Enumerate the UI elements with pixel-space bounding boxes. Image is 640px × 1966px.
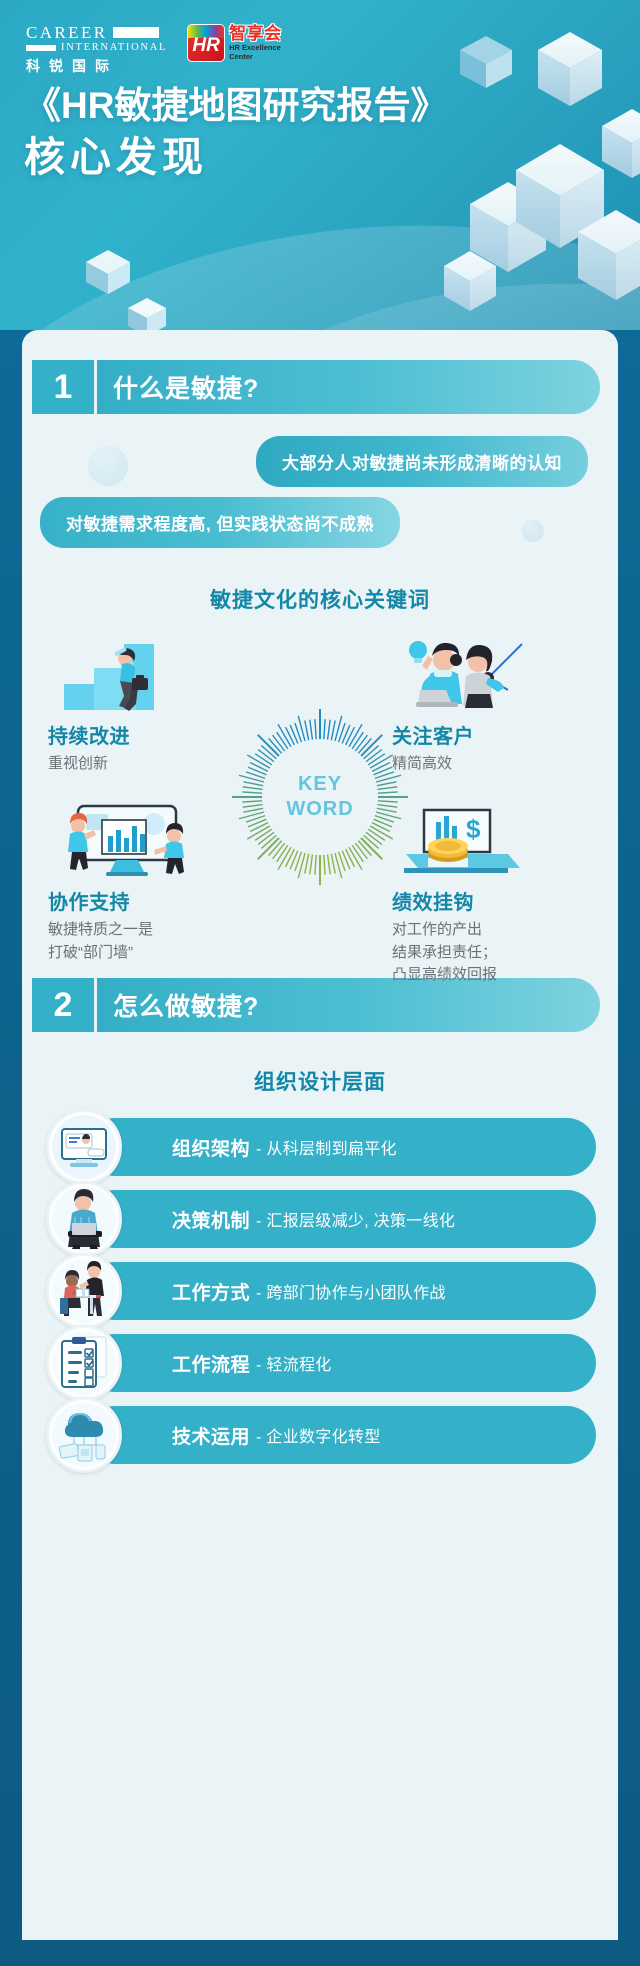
floating-cube-icon-1 (460, 34, 512, 90)
bubble-dot-decor-small (522, 520, 544, 542)
keyword-center-burst: KEY WORD (229, 706, 411, 888)
hr-logo-sub-2: Center (229, 53, 282, 61)
list-item[interactable]: 工作流程 - 轻流程化 (40, 1334, 596, 1392)
organization-design-list: 组织架构 - 从科层制到扁平化 (40, 1118, 596, 1464)
career-logo-cn: 科锐国际 (26, 59, 167, 73)
presentation-chart-icon (48, 804, 248, 878)
keyword-center-label: KEY WORD (229, 772, 411, 822)
finding-pill-1: 大部分人对敏捷尚未形成清晰的认知 (256, 436, 588, 487)
stairs-climb-icon (48, 638, 248, 712)
hr-logo-sub-1: HR Excellence (229, 44, 282, 52)
checklist-icon (46, 1325, 122, 1401)
list-item-title: 工作方式 (172, 1278, 250, 1305)
section-2-number: 2 (32, 978, 94, 1032)
desktop-profile-icon (46, 1109, 122, 1185)
keyword-desc-1: 重视创新 (48, 753, 248, 776)
section-2-sub-heading: 组织设计层面 (22, 1066, 618, 1096)
finding-pill-2: 对敏捷需求程度高, 但实践状态尚不成熟 (40, 497, 400, 548)
keyword-desc-4: 对工作的产出结果承担责任；凸显高绩效回报 (392, 919, 592, 987)
page-title: 《HR敏捷地图研究报告》 核心发现 (24, 84, 447, 182)
hr-badge-text: HR (192, 36, 219, 55)
keyword-center-label-line-1: KEY (229, 772, 411, 797)
keyword-grid: KEY WORD (22, 628, 618, 958)
list-item-bar[interactable]: 组织架构 - 从科层制到扁平化 (86, 1118, 596, 1176)
hr-logo-cn: 智享会 (229, 25, 282, 43)
keyword-name-2: 关注客户 (392, 720, 592, 749)
keyword-center-label-line-2: WORD (229, 797, 411, 822)
list-item-bar[interactable]: 决策机制 - 汇报层级减少, 决策一线化 (86, 1190, 596, 1248)
content-panel: 1 什么是敏捷? 大部分人对敏捷尚未形成清晰的认知 对敏捷需求程度高, 但实践状… (22, 330, 618, 1940)
section-1-findings: 大部分人对敏捷尚未形成清晰的认知 对敏捷需求程度高, 但实践状态尚不成熟 (40, 436, 600, 548)
list-item-detail: - 汇报层级减少, 决策一线化 (256, 1207, 455, 1231)
list-item[interactable]: 工作方式 - 跨部门协作与小团队作战 (40, 1262, 596, 1320)
keyword-name-3: 协作支持 (48, 886, 248, 915)
career-logo-en-top: CAREER (26, 24, 107, 41)
keyword-item-3: 协作支持 敏捷特质之一是打破“部门墙” (48, 804, 248, 964)
infographic-page: CAREER INTERNATIONAL 科锐国际 HR 智享会 HR Exce… (0, 0, 640, 1966)
hero-banner: CAREER INTERNATIONAL 科锐国际 HR 智享会 HR Exce… (0, 0, 640, 330)
keyword-item-1: 持续改进 重视创新 (48, 638, 248, 776)
laptop-coins-icon: $ (392, 804, 592, 878)
page-title-line-1: 《HR敏捷地图研究报告》 (24, 84, 447, 128)
career-logo-en-bottom: INTERNATIONAL (61, 43, 167, 54)
list-item-detail: - 从科层制到扁平化 (256, 1135, 397, 1159)
keyword-item-2: 关注客户 精简高效 (392, 638, 592, 776)
keyword-name-1: 持续改进 (48, 720, 248, 749)
team-meeting-icon (46, 1253, 122, 1329)
career-logo-bar-2 (26, 45, 56, 51)
hr-badge-icon: HR (187, 24, 225, 62)
section-1-title: 什么是敏捷? (97, 360, 600, 414)
career-logo-bar (113, 27, 159, 38)
floating-cube-icon-3 (128, 296, 166, 330)
keyword-item-4: $ 绩效挂钩 对工作的产出结果承担责任；凸显高绩效回报 (392, 804, 592, 987)
bubble-dot-decor (88, 446, 128, 486)
list-item[interactable]: 技术运用 - 企业数字化转型 (40, 1406, 596, 1464)
keyword-desc-2: 精简高效 (392, 753, 592, 776)
keyword-name-4: 绩效挂钩 (392, 886, 592, 915)
list-item-title: 决策机制 (172, 1206, 250, 1233)
person-laptop-icon (46, 1181, 122, 1257)
keyword-section-title: 敏捷文化的核心关键词 (22, 584, 618, 614)
list-item-title: 技术运用 (172, 1422, 250, 1449)
section-1-number: 1 (32, 360, 94, 414)
two-people-idea-icon (392, 638, 592, 712)
page-title-line-2: 核心发现 (24, 132, 447, 182)
list-item-detail: - 轻流程化 (256, 1351, 332, 1375)
list-item[interactable]: 组织架构 - 从科层制到扁平化 (40, 1118, 596, 1176)
section-1-header: 1 什么是敏捷? (32, 360, 600, 414)
list-item-detail: - 企业数字化转型 (256, 1423, 380, 1447)
svg-text:$: $ (466, 814, 481, 844)
list-item-bar[interactable]: 工作方式 - 跨部门协作与小团队作战 (86, 1262, 596, 1320)
list-item-bar[interactable]: 工作流程 - 轻流程化 (86, 1334, 596, 1392)
keyword-desc-3: 敏捷特质之一是打破“部门墙” (48, 919, 248, 964)
cloud-devices-icon (46, 1397, 122, 1473)
floating-cube-icon-2 (86, 248, 130, 296)
logo-bar: CAREER INTERNATIONAL 科锐国际 HR 智享会 HR Exce… (26, 24, 282, 73)
list-item-title: 工作流程 (172, 1350, 250, 1377)
hr-excellence-center-logo: HR 智享会 HR Excellence Center (187, 24, 282, 62)
list-item-detail: - 跨部门协作与小团队作战 (256, 1279, 446, 1303)
list-item[interactable]: 决策机制 - 汇报层级减少, 决策一线化 (40, 1190, 596, 1248)
list-item-bar[interactable]: 技术运用 - 企业数字化转型 (86, 1406, 596, 1464)
list-item-title: 组织架构 (172, 1134, 250, 1161)
career-international-logo: CAREER INTERNATIONAL 科锐国际 (26, 24, 167, 73)
